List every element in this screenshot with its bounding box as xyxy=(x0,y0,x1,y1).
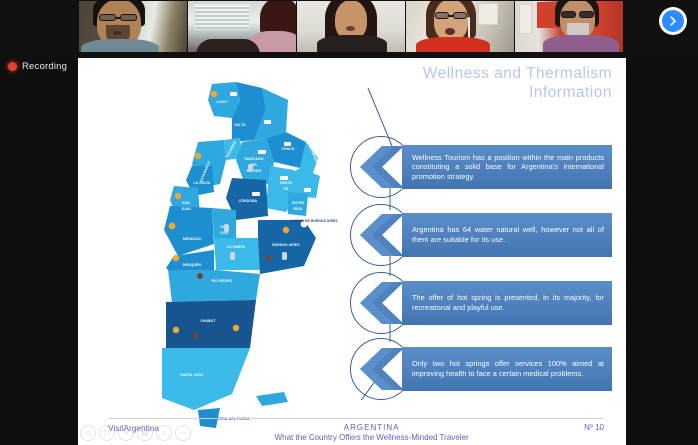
svg-text:ENTRE: ENTRE xyxy=(292,201,305,205)
video-feed xyxy=(79,1,187,52)
shared-slide: Wellness and Thermalism Information xyxy=(78,58,626,445)
callout-4: Only two hot springs offer services 100%… xyxy=(350,338,612,400)
picture-frame xyxy=(478,3,498,25)
eyeglass-bridge xyxy=(449,15,453,17)
callout-text: Wellness Tourism has a position within t… xyxy=(402,153,612,182)
eyeglasses-icon xyxy=(561,11,576,18)
picture-frame xyxy=(519,4,532,34)
eyeglasses-icon xyxy=(435,12,449,19)
footer-center: ARGENTINA What the Country Offers the We… xyxy=(275,423,469,443)
svg-text:JUJUY: JUJUY xyxy=(216,100,228,104)
callout-band: Argentina has 64 water natural well, how… xyxy=(402,213,612,257)
face xyxy=(434,1,468,41)
pen-tool-button[interactable]: ✎ xyxy=(118,425,134,441)
participant-tile-3[interactable] xyxy=(297,1,405,52)
svg-text:CHACO: CHACO xyxy=(281,147,294,151)
play-slide-button[interactable]: ▷ xyxy=(99,425,115,441)
svg-text:SANTA CRUZ: SANTA CRUZ xyxy=(180,373,203,377)
participant-tile-1[interactable] xyxy=(79,1,187,52)
callout-text: Only two hot springs offer services 100%… xyxy=(402,359,612,378)
window-blinds xyxy=(194,4,250,30)
zoom-button[interactable]: ⌕ xyxy=(156,425,172,441)
chevron-right-icon xyxy=(662,10,684,32)
slide-title-line-2: Information xyxy=(332,83,612,102)
svg-text:NEUQUÉN: NEUQUÉN xyxy=(183,262,201,267)
callout-text: Argentina has 64 water natural well, how… xyxy=(402,225,612,244)
video-feed xyxy=(515,1,623,52)
zoom-meeting-window: Recording Wellness and Thermalism Inform… xyxy=(0,0,698,445)
callout-1: Wellness Tourism has a position within t… xyxy=(350,136,612,198)
chevron-left-icon xyxy=(360,348,404,390)
more-button[interactable]: ⋯ xyxy=(175,425,191,441)
eyeglasses-icon xyxy=(579,11,594,18)
svg-text:CHUBUT: CHUBUT xyxy=(200,319,216,323)
torso xyxy=(317,35,387,52)
footer-country: ARGENTINA xyxy=(275,423,469,433)
earphone-cable xyxy=(468,17,470,39)
chair xyxy=(196,39,260,52)
participant-tile-2[interactable] xyxy=(188,1,296,52)
mouth xyxy=(445,28,455,35)
svg-text:RÍOS: RÍOS xyxy=(294,206,303,211)
eyeglasses-icon xyxy=(120,14,137,21)
svg-text:MENDOZA: MENDOZA xyxy=(183,237,202,241)
recording-dot-icon xyxy=(8,62,17,71)
svg-text:CÓRDOBA: CÓRDOBA xyxy=(239,198,258,203)
eyeglass-bridge xyxy=(116,17,120,19)
svg-text:FORMOSA: FORMOSA xyxy=(297,112,309,130)
argentina-map: JUJUY SALTA FORMOSA CHACO TUCUMÁN CATAMA… xyxy=(136,80,346,410)
callout-text: The offer of hot spring is presented, in… xyxy=(402,293,612,312)
svg-text:CIUDAD DE BUENOS AIRES: CIUDAD DE BUENOS AIRES xyxy=(290,219,338,223)
footer-page-number: Nº 10 xyxy=(584,423,604,432)
slide-title-line-1: Wellness and Thermalism xyxy=(332,64,612,83)
torso xyxy=(416,37,490,52)
chevron-left-icon xyxy=(360,214,404,256)
participant-tile-5[interactable] xyxy=(515,1,623,52)
recording-indicator[interactable]: Recording xyxy=(8,58,67,75)
torso xyxy=(543,35,619,52)
torso xyxy=(81,39,159,52)
video-feed xyxy=(406,1,514,52)
svg-text:JUAN: JUAN xyxy=(181,207,191,211)
svg-text:SAN: SAN xyxy=(182,201,190,205)
svg-text:RÍO NEGRO: RÍO NEGRO xyxy=(212,278,233,283)
next-participants-page-button[interactable] xyxy=(659,7,687,35)
chevron-left-icon xyxy=(360,146,404,188)
slideshow-controls[interactable]: ◁ ▷ ✎ ▤ ⌕ ⋯ xyxy=(80,423,191,443)
callout-band: Only two hot springs offer services 100%… xyxy=(402,347,612,391)
callout-band: The offer of hot spring is presented, in… xyxy=(402,281,612,325)
footer-subtitle: What the Country Offers the Wellness-Min… xyxy=(275,433,469,443)
participant-tile-4[interactable] xyxy=(406,1,514,52)
chevron-left-icon xyxy=(360,282,404,324)
eyeglasses-icon xyxy=(453,12,467,19)
svg-text:SANTA: SANTA xyxy=(280,181,293,185)
menu-button[interactable]: ▤ xyxy=(137,425,153,441)
filmstrip-left-padding xyxy=(0,0,78,57)
video-feed xyxy=(297,1,405,52)
participant-filmstrip xyxy=(0,0,698,57)
slide-title: Wellness and Thermalism Information xyxy=(332,64,612,102)
eyeglasses-icon xyxy=(99,14,116,21)
svg-text:LA RIOJA: LA RIOJA xyxy=(194,181,211,185)
callout-3: The offer of hot spring is presented, in… xyxy=(350,272,612,334)
callout-2: Argentina has 64 water natural well, how… xyxy=(350,204,612,266)
mouth xyxy=(346,26,355,31)
svg-text:FE: FE xyxy=(284,187,289,191)
callout-band: Wellness Tourism has a position within t… xyxy=(402,145,612,189)
recording-label: Recording xyxy=(22,61,67,72)
svg-text:SALTA: SALTA xyxy=(234,123,246,127)
svg-text:SANTIAGO: SANTIAGO xyxy=(244,157,263,161)
video-feed xyxy=(188,1,296,52)
prev-slide-button[interactable]: ◁ xyxy=(80,425,96,441)
svg-text:LA PAMPA: LA PAMPA xyxy=(227,245,246,249)
svg-text:BUENOS AIRES: BUENOS AIRES xyxy=(272,243,300,247)
